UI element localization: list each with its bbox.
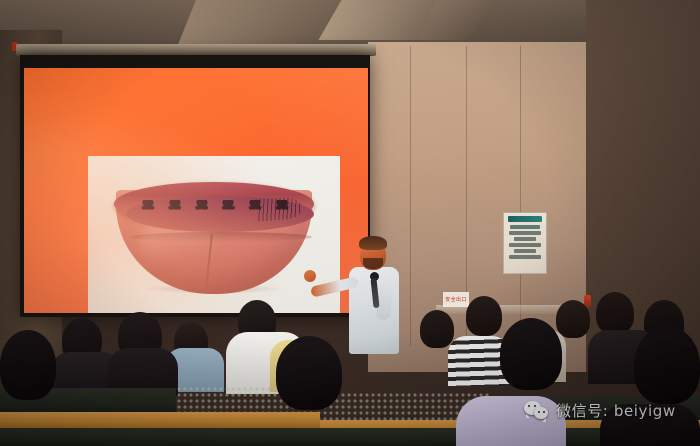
- wall-seam: [520, 46, 521, 346]
- audience-head: [556, 300, 590, 338]
- presenter-beard: [363, 258, 383, 269]
- audience-head-foreground: [634, 326, 700, 404]
- notice-row: [509, 231, 541, 235]
- audience-head-foreground: [0, 330, 56, 400]
- audience-head-foreground: [276, 336, 342, 410]
- watermark-label: 微信号: beiyigw: [556, 400, 676, 421]
- motif-figure-icon: [167, 200, 183, 216]
- presenter-hair: [359, 236, 387, 250]
- painted-pottery-bowl: [108, 172, 320, 296]
- motif-figure-icon: [194, 200, 210, 216]
- slide-content-card: 彩陶舞蹈纹盆 高 14 厘米 马家窑文化 青海大通县出土 公元前 3800 年 …: [88, 156, 340, 313]
- audience-head: [420, 310, 454, 348]
- bowl-rim: [114, 182, 314, 226]
- notice-row: [514, 249, 537, 253]
- seat-back-lower: [0, 428, 700, 446]
- notice-row: [514, 237, 537, 241]
- audience-head: [466, 296, 502, 336]
- audience-head: [596, 292, 634, 334]
- exit-sign-label: 安全出口: [445, 296, 467, 303]
- wall-notice-board: [503, 212, 547, 274]
- notice-header-bar: [508, 216, 542, 222]
- exit-sign: 安全出口: [443, 292, 469, 307]
- notice-row: [509, 255, 541, 259]
- ceiling-beam-secondary: [318, 0, 491, 40]
- bowl-band: [130, 232, 312, 242]
- lecture-hall-photo: 彩陶舞蹈纹盆 高 14 厘米 马家窑文化 青海大通县出土 公元前 3800 年 …: [0, 0, 700, 446]
- bowl-crack: [205, 234, 213, 290]
- presenter: [316, 234, 428, 354]
- motif-figure-icon: [140, 200, 156, 216]
- wechat-watermark: 微信号: beiyigw: [524, 400, 676, 421]
- notice-row: [510, 225, 540, 229]
- audience-head-foreground: [500, 318, 562, 390]
- presenter-hand: [304, 270, 316, 282]
- motif-figure-icon: [220, 200, 236, 216]
- wechat-icon: [524, 401, 550, 420]
- wechat-bubble-small: [534, 407, 548, 419]
- notice-row: [509, 243, 541, 247]
